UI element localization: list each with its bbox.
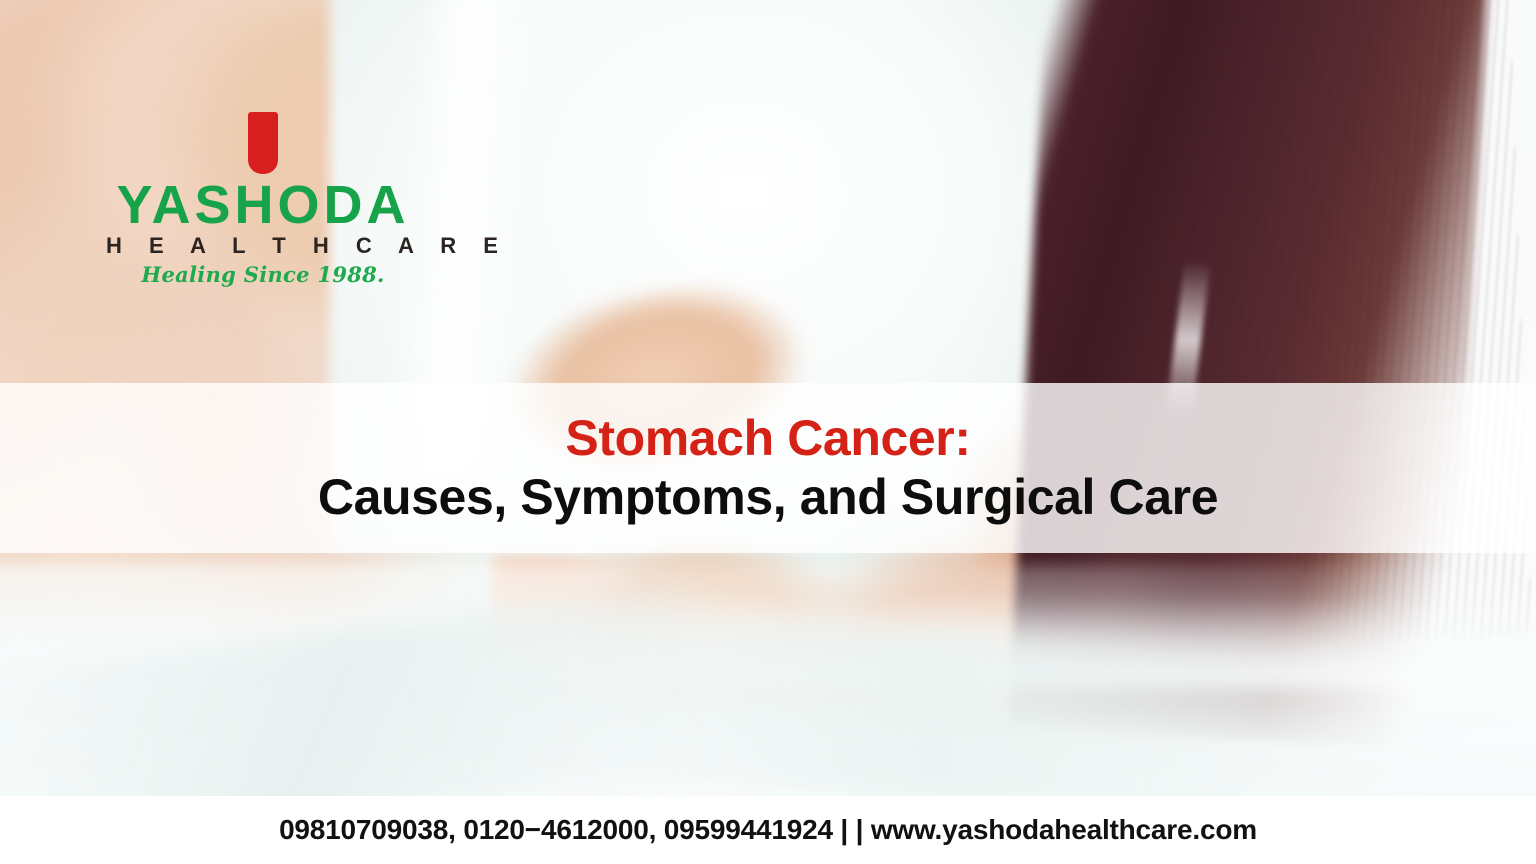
footer-contact-text[interactable]: 09810709038, 0120−4612000, 09599441924 |… [279, 814, 1257, 846]
logo-brand-name: YASHODA [98, 180, 428, 232]
banner-root: YASHODA H E A L T H C A R E Healing Sinc… [0, 0, 1536, 864]
footer-bar: 09810709038, 0120−4612000, 09599441924 |… [0, 796, 1536, 864]
logo-sub-brand: H E A L T H C A R E [98, 232, 428, 261]
page-title-secondary: Causes, Symptoms, and Surgical Care [318, 468, 1218, 527]
test-tube-icon [248, 112, 278, 174]
page-title-primary: Stomach Cancer: [565, 409, 970, 468]
logo[interactable]: YASHODA H E A L T H C A R E Healing Sinc… [98, 112, 428, 289]
title-band: Stomach Cancer: Causes, Symptoms, and Su… [0, 383, 1536, 553]
logo-tagline: Healing Since 1988. [98, 262, 428, 288]
